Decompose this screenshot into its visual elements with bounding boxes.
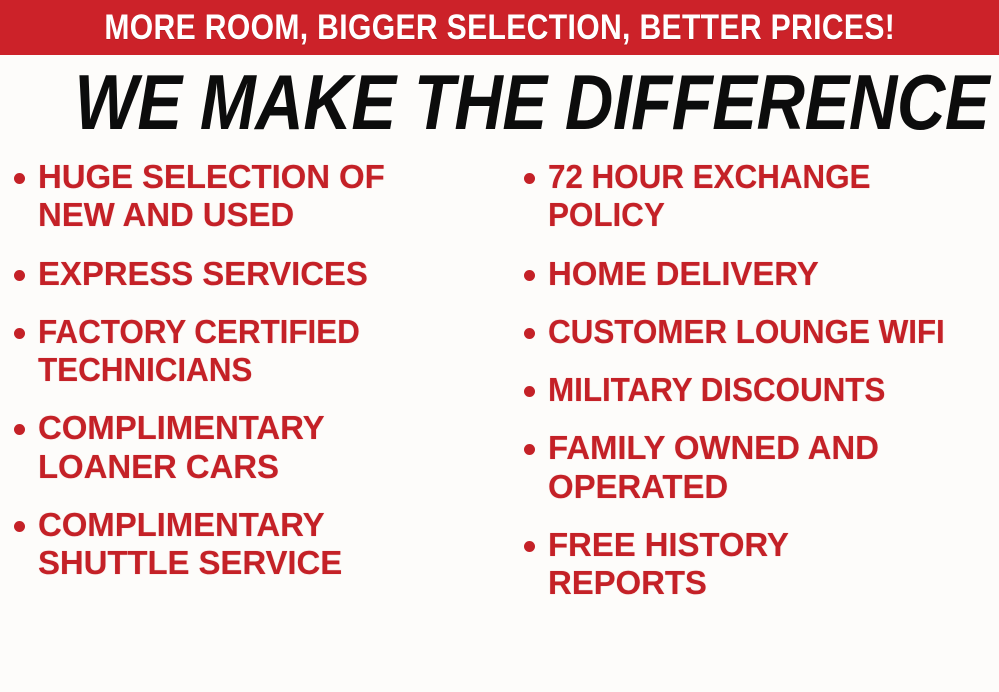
list-item-label: FREE HISTORY REPORTS — [548, 526, 878, 603]
list-item-label: MILITARY DISCOUNTS — [548, 371, 885, 409]
bullet-dot-icon — [524, 444, 535, 455]
benefits-column-left: HUGE SELECTION OF NEW AND USED EXPRESS S… — [0, 158, 505, 602]
list-item: HUGE SELECTION OF NEW AND USED — [14, 158, 505, 235]
list-item: FACTORY CERTIFIED TECHNICIANS — [14, 313, 505, 390]
list-item-label: COMPLIMENTARY SHUTTLE SERVICE — [38, 506, 438, 583]
benefits-columns: HUGE SELECTION OF NEW AND USED EXPRESS S… — [0, 158, 999, 692]
list-item-label: HOME DELIVERY — [548, 255, 819, 293]
bullet-dot-icon — [524, 173, 535, 184]
list-item: COMPLIMENTARY SHUTTLE SERVICE — [14, 506, 505, 583]
list-item: FAMILY OWNED AND OPERATED — [524, 429, 999, 506]
bullet-dot-icon — [524, 328, 535, 339]
bullet-dot-icon — [14, 173, 25, 184]
list-item-label: FAMILY OWNED AND OPERATED — [548, 429, 968, 506]
bullet-dot-icon — [524, 541, 535, 552]
main-headline: WE MAKE THE DIFFERENCE — [0, 63, 999, 141]
bullet-dot-icon — [14, 521, 25, 532]
list-item: COMPLIMENTARY LOANER CARS — [14, 409, 505, 486]
list-item: EXPRESS SERVICES — [14, 255, 505, 293]
bullet-dot-icon — [14, 424, 25, 435]
list-item: HOME DELIVERY — [524, 255, 999, 293]
list-item: MILITARY DISCOUNTS — [524, 371, 999, 409]
main-headline-text: WE MAKE THE DIFFERENCE — [74, 63, 989, 141]
promo-poster: MORE ROOM, BIGGER SELECTION, BETTER PRIC… — [0, 0, 999, 692]
bullet-dot-icon — [14, 328, 25, 339]
list-item-label: FACTORY CERTIFIED TECHNICIANS — [38, 313, 458, 390]
list-item-label: CUSTOMER LOUNGE WIFI — [548, 313, 945, 351]
benefits-column-right: 72 HOUR EXCHANGE POLICY HOME DELIVERY CU… — [505, 158, 999, 622]
list-item: 72 HOUR EXCHANGE POLICY — [524, 158, 999, 235]
list-item-label: COMPLIMENTARY LOANER CARS — [38, 409, 438, 486]
bullet-dot-icon — [524, 386, 535, 397]
list-item: CUSTOMER LOUNGE WIFI — [524, 313, 999, 351]
list-item-label: EXPRESS SERVICES — [38, 255, 368, 293]
list-item: FREE HISTORY REPORTS — [524, 526, 999, 603]
list-item-label: HUGE SELECTION OF NEW AND USED — [38, 158, 468, 235]
bullet-dot-icon — [524, 270, 535, 281]
banner-headline: MORE ROOM, BIGGER SELECTION, BETTER PRIC… — [104, 10, 895, 45]
top-banner: MORE ROOM, BIGGER SELECTION, BETTER PRIC… — [0, 0, 999, 55]
list-item-label: 72 HOUR EXCHANGE POLICY — [548, 158, 954, 235]
bullet-dot-icon — [14, 270, 25, 281]
